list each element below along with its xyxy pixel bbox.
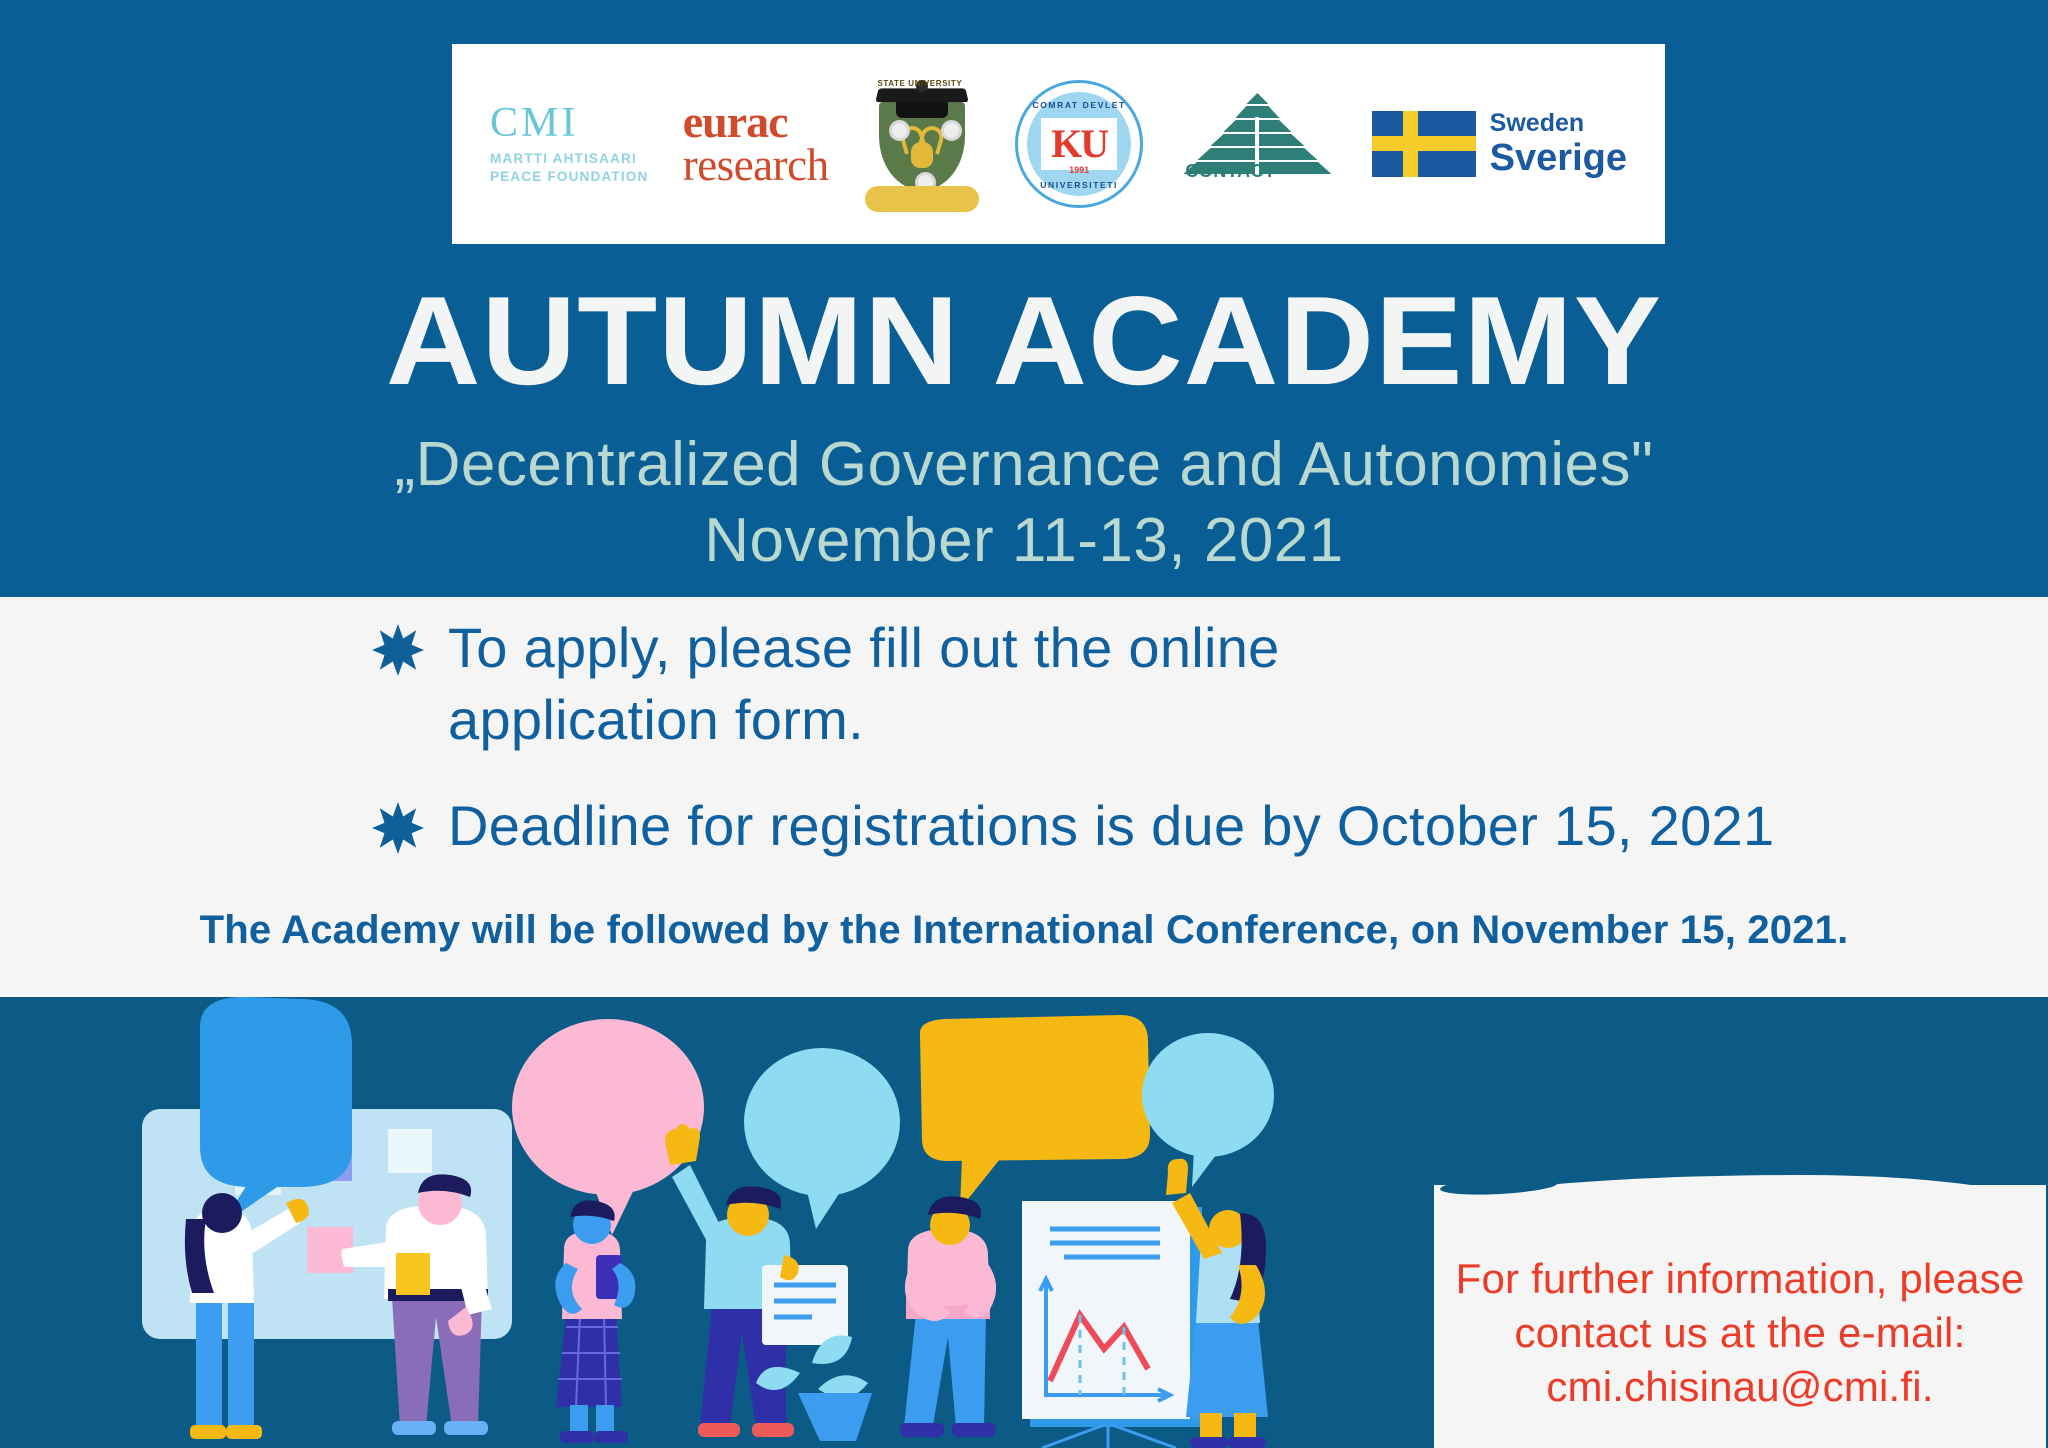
contact-wordmark: CONTACT [1185,161,1275,182]
bullet-text: To apply, please fill out the online app… [448,612,1472,755]
person-figure [555,1200,635,1443]
eurac-research-logo: eurac research [683,44,829,244]
star-burst-icon [372,624,424,676]
seal-bottom-text: UNIVERSITETI [1015,180,1143,190]
bullet-item: Deadline for registrations is due by Oct… [372,790,1932,862]
speech-bubble-cyan-2 [1142,1033,1274,1187]
sweden-sverige-logo: Sweden Sverige [1372,44,1627,244]
contact-pyramid-logo: CONTACT [1177,44,1337,244]
contact-note-text: For further information, please contact … [1444,1252,2036,1413]
crest-ribbon-text: STATE UNIVERSITY [863,79,977,88]
partner-logo-strip: CMI MARTTI AHTISAARI PEACE FOUNDATION eu… [452,44,1665,244]
cmi-tagline-line1: MARTTI AHTISAARI [490,150,648,168]
eurac-wordmark: eurac [683,100,788,144]
flipchart [1022,1201,1202,1448]
eurac-research-word: research [683,143,829,188]
comrat-state-university-logo: COMRAT DEVLET KU 1991 UNIVERSITETI [1015,44,1143,244]
crest-ornament-icon [941,120,962,141]
crest-ornament-icon [889,120,910,141]
speech-bubble-yellow [920,1015,1150,1209]
person-figure [900,1196,996,1437]
seal-top-text: COMRAT DEVLET [1015,100,1143,110]
sweden-flag-icon [1372,111,1476,177]
bullet-item: To apply, please fill out the online app… [372,612,1472,755]
event-dateline: November 11-13, 2021 [0,506,2048,575]
page-title: AUTUMN ACADEMY [0,278,2048,404]
seal-monogram: KU [1041,118,1117,170]
sweden-label-en: Sweden [1490,111,1627,136]
conference-footnote: The Academy will be followed by the Inte… [0,908,2048,953]
star-burst-icon [372,802,424,854]
speech-bubble-pink [512,1019,704,1235]
moldova-state-university-crest: STATE UNIVERSITY [863,44,981,244]
cmi-wordmark: CMI [490,102,578,144]
bullet-text: Deadline for registrations is due by Oct… [448,790,1774,862]
sweden-label-sv: Sverige [1490,139,1627,177]
cmi-tagline-line2: PEACE FOUNDATION [490,168,648,186]
cmi-logo: CMI MARTTI AHTISAARI PEACE FOUNDATION [490,44,648,244]
seal-year: 1991 [1015,165,1143,175]
poster-root: CMI MARTTI AHTISAARI PEACE FOUNDATION eu… [0,0,2048,1448]
aurochs-head-icon [911,142,933,168]
sticky-note [388,1129,432,1173]
pyramid-tier-icon [1246,93,1268,104]
crest-ribbon [865,186,979,212]
page-subtitle: „Decentralized Governance and Autonomies… [0,430,2048,499]
